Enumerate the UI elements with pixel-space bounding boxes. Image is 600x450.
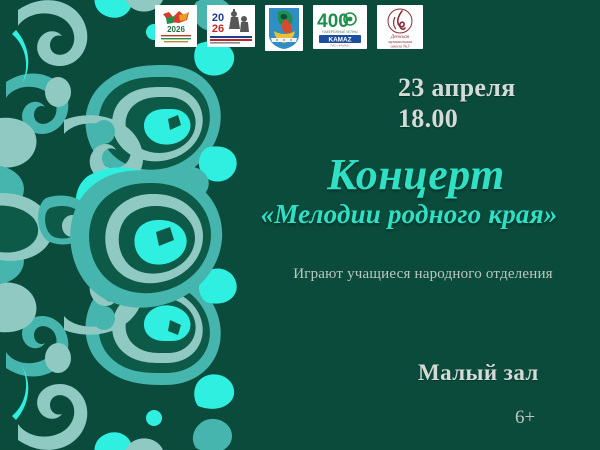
- page-title: Концерт: [240, 152, 592, 198]
- performers-line: Играют учащиеся народного отделения: [258, 265, 588, 284]
- logo-2026-anniversary: 2026: [155, 5, 197, 47]
- concert-poster: 2026 20 26: [0, 0, 600, 450]
- sponsor-logo-row: 2026 20 26: [155, 5, 455, 51]
- venue-hall: Малый зал: [418, 360, 539, 386]
- logo-naberezhnye-chelny-coat-of-arms: [265, 5, 303, 51]
- svg-text:26: 26: [212, 23, 224, 35]
- age-rating-badge: 6+: [515, 407, 535, 429]
- logo-detskaya-muzykalnaya-shkola-3: Детская музыкальная школа №3: [377, 5, 423, 49]
- svg-text:ПАО «КАМАЗ»: ПАО «КАМАЗ»: [330, 44, 350, 48]
- event-date: 23 апреля: [398, 72, 516, 103]
- logo-2026-god-zashchitnika: 20 26: [207, 5, 255, 47]
- event-datetime: 23 апреля 18.00: [398, 72, 516, 134]
- logo-kamaz-400: 400 НАБЕРЕЖНЫЕ ЧЕЛНЫ KAMAZ ПАО «КАМАЗ»: [313, 5, 367, 49]
- svg-text:НАБЕРЕЖНЫЕ ЧЕЛНЫ: НАБЕРЕЖНЫЕ ЧЕЛНЫ: [322, 30, 358, 34]
- svg-text:школа №3: школа №3: [391, 44, 411, 49]
- tatar-floral-ornament: [0, 0, 240, 450]
- svg-text:KAMAZ: KAMAZ: [328, 37, 351, 44]
- svg-text:2026: 2026: [167, 25, 185, 34]
- event-time: 18.00: [398, 103, 516, 134]
- concert-subtitle: «Мелодии родного края»: [222, 198, 596, 230]
